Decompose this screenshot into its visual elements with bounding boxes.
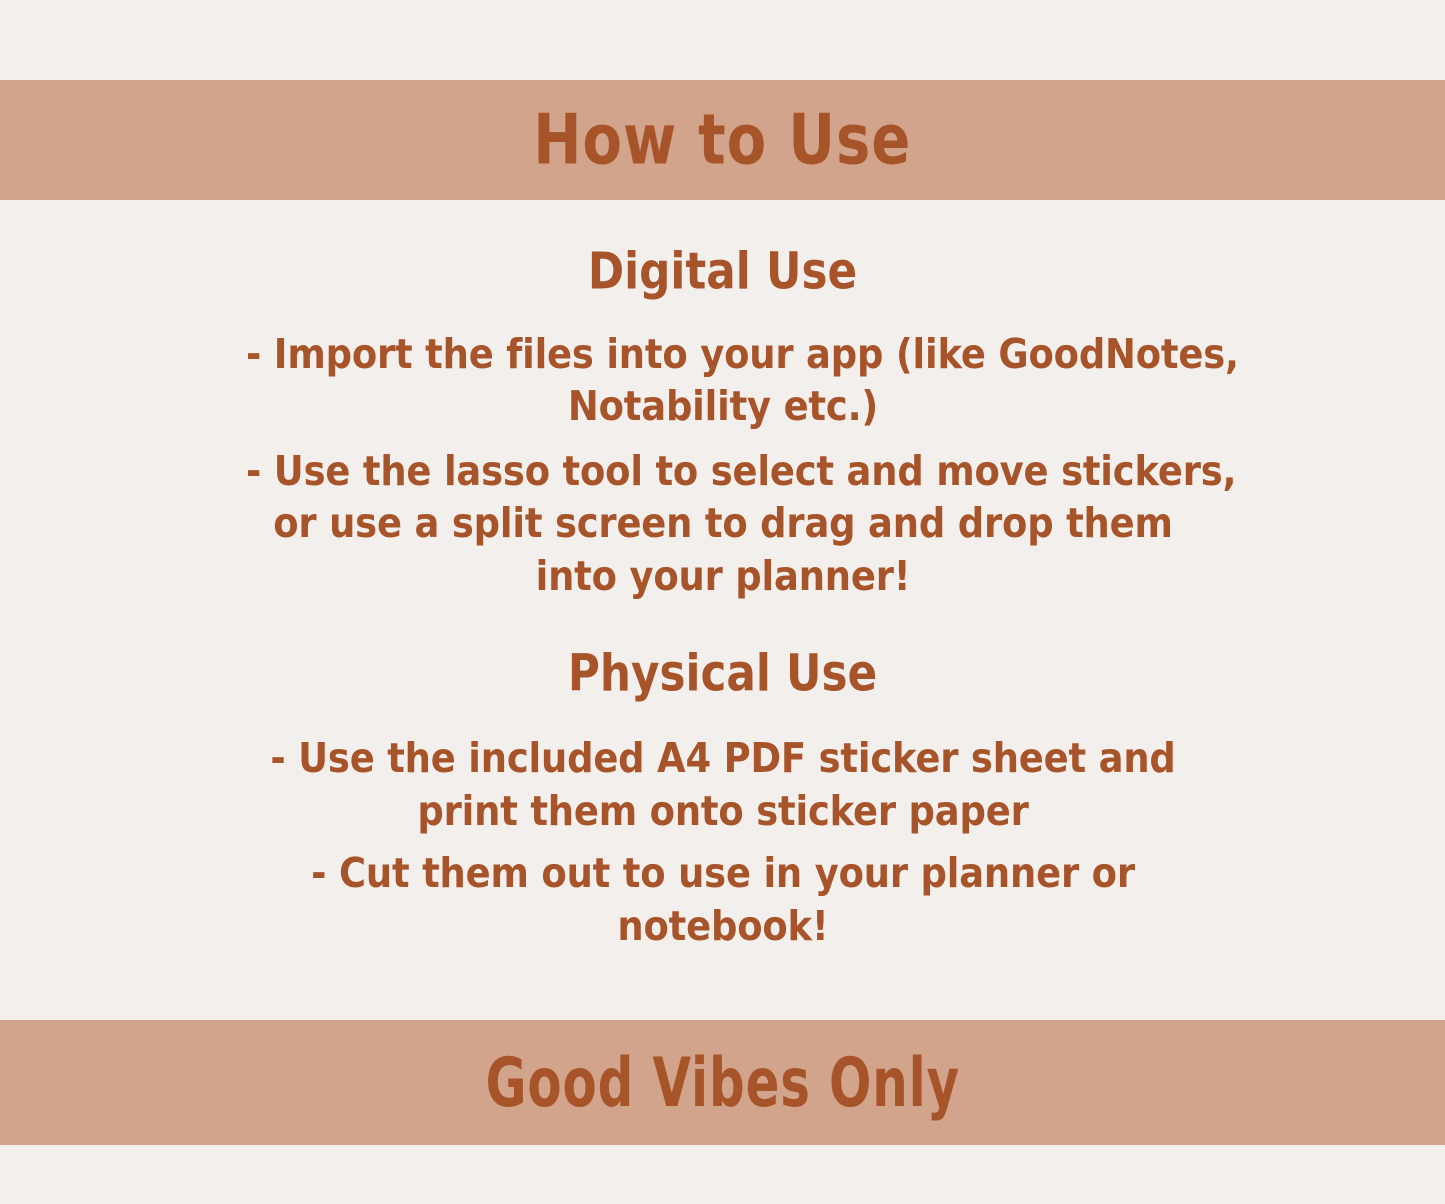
footer-tagline: Good Vibes Only <box>485 1049 959 1116</box>
instruction-paragraph-print: - Use the included A4 PDF sticker sheet … <box>246 732 1200 837</box>
instruction-line: - Cut them out to use in your planner or <box>246 847 1200 899</box>
instruction-line: - Use the lasso tool to select and move … <box>246 445 1200 497</box>
instruction-line: print them onto sticker paper <box>246 785 1200 837</box>
footer-band: Good Vibes Only <box>0 1020 1445 1145</box>
header-band: How to Use <box>0 80 1445 200</box>
instruction-line: - Use the included A4 PDF sticker sheet … <box>246 732 1200 784</box>
section-heading-digital-use: Digital Use <box>36 246 1409 297</box>
instruction-line: into your planner! <box>246 550 1200 602</box>
section-heading-physical-use: Physical Use <box>36 648 1409 699</box>
instruction-line: or use a split screen to drag and drop t… <box>246 497 1200 549</box>
instructions-content: Digital Use - Import the files into your… <box>0 200 1445 1020</box>
instruction-line: notebook! <box>246 900 1200 952</box>
instruction-line: - Import the files into your app (like G… <box>246 328 1200 380</box>
page-title: How to Use <box>533 105 911 174</box>
instruction-line: Notability etc.) <box>246 380 1200 432</box>
instruction-paragraph-import: - Import the files into your app (like G… <box>246 328 1200 433</box>
how-to-use-page: How to Use Digital Use - Import the file… <box>0 0 1445 1204</box>
instruction-paragraph-lasso: - Use the lasso tool to select and move … <box>246 445 1200 602</box>
instruction-paragraph-cut: - Cut them out to use in your planner or… <box>246 847 1200 952</box>
